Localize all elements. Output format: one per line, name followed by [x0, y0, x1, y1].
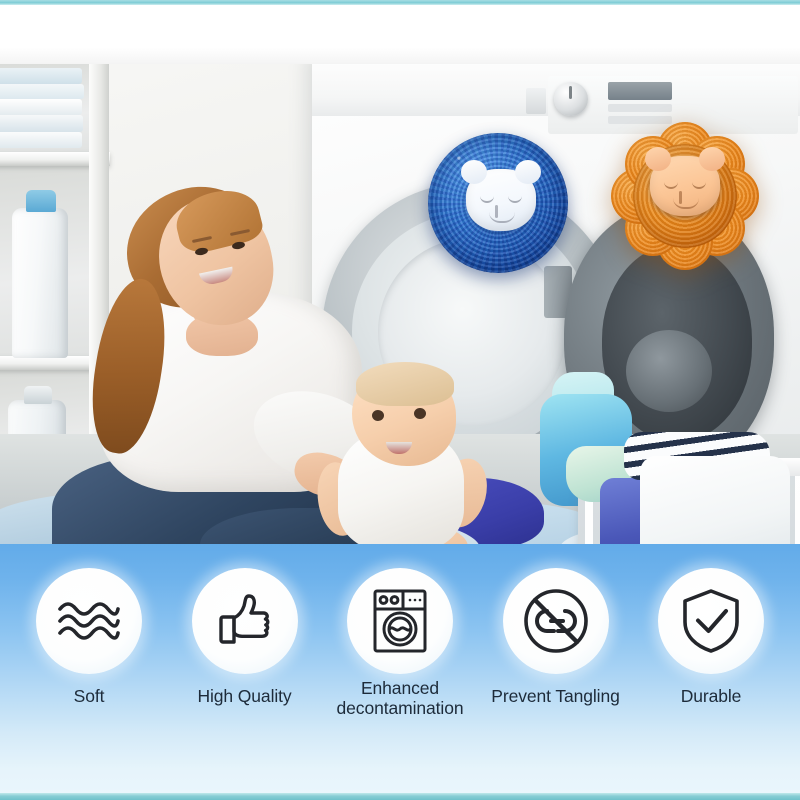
feature-enhanced-decontamination[interactable]: Enhanced decontamination — [325, 568, 475, 718]
feature-high-quality[interactable]: High Quality — [170, 568, 320, 706]
machine-display — [608, 82, 672, 100]
bear-ear — [515, 160, 541, 184]
bear-eye — [508, 196, 522, 203]
waves-icon — [36, 568, 142, 674]
detergent-drawer-handle — [526, 88, 546, 114]
folded-towel — [0, 84, 84, 99]
bottom-teal-strip — [0, 793, 800, 800]
bear-ear — [699, 147, 725, 171]
feature-label: Soft — [74, 686, 105, 706]
title-band — [0, 4, 800, 64]
feature-label: Durable — [681, 686, 742, 706]
shield-check-icon — [658, 568, 764, 674]
top-teal-strip — [0, 0, 800, 5]
feature-list: Soft High Quality — [0, 568, 800, 768]
feature-label: Prevent Tangling — [491, 686, 619, 706]
baby-eye — [414, 408, 426, 419]
feature-durable[interactable]: Durable — [636, 568, 786, 706]
folded-towel — [0, 115, 83, 132]
product-poster: Household Essentials Soft — [0, 0, 800, 800]
program-dial — [554, 82, 588, 116]
washing-machine-icon — [347, 568, 453, 674]
feature-label: High Quality — [197, 686, 291, 706]
bear-ear — [645, 147, 671, 171]
folded-towel — [0, 132, 82, 148]
folded-towel — [0, 68, 82, 84]
bear-eye — [480, 196, 494, 203]
baby-hair — [356, 362, 454, 406]
feature-soft[interactable]: Soft — [14, 568, 164, 706]
bear-eye — [692, 182, 706, 189]
bear-eye — [664, 182, 678, 189]
bottle-cap — [26, 190, 56, 212]
blue-lint-catcher-ball — [428, 133, 568, 273]
no-tangle-icon — [503, 568, 609, 674]
feature-label: Enhanced decontamination — [337, 678, 464, 718]
bear-face-icon — [650, 156, 720, 216]
orange-lint-catcher-ball — [613, 122, 756, 270]
thumbs-up-icon — [192, 568, 298, 674]
baby-eye — [372, 410, 384, 421]
machine-panel-line — [608, 104, 672, 112]
bear-ear — [461, 160, 487, 184]
feature-prevent-tangling[interactable]: Prevent Tangling — [481, 568, 631, 706]
folded-towel — [0, 99, 82, 115]
bear-face-icon — [466, 169, 536, 231]
detergent-bottle — [12, 208, 68, 358]
bear-mouth — [673, 198, 699, 209]
bottle-cap — [24, 386, 52, 404]
bear-mouth — [489, 212, 515, 223]
